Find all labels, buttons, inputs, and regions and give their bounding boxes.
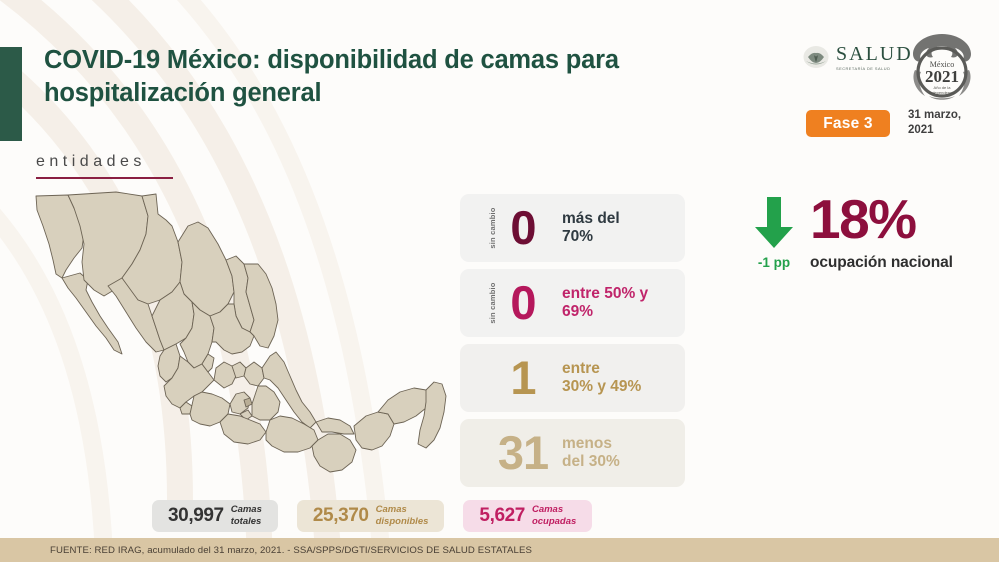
page-title: COVID-19 México: disponibilidad de camas… — [44, 44, 644, 110]
national-occupancy: -1 pp 18% ocupación nacional — [738, 193, 988, 272]
svg-text:Independencia: Independencia — [929, 90, 956, 95]
entidades-label: entidades — [36, 153, 173, 171]
pill-camas-ocupadas: 5,627 Camas ocupadas — [463, 500, 592, 532]
card-number: 0 — [486, 206, 560, 251]
change-label: sin cambio — [488, 207, 497, 248]
card-label: más del 70% — [560, 210, 620, 247]
entidades-section-header: entidades — [36, 153, 173, 179]
slide-canvas: COVID-19 México: disponibilidad de camas… — [0, 0, 999, 562]
source-text: FUENTE: RED IRAG, acumulado del 31 marzo… — [50, 545, 532, 556]
entidades-underline — [36, 177, 173, 179]
card-row: sin cambio 0 más del 70% — [460, 194, 685, 262]
footer-bar: FUENTE: RED IRAG, acumulado del 31 marzo… — [0, 538, 999, 562]
mexico-map — [22, 186, 462, 498]
card-number: 31 — [486, 431, 560, 476]
card-label: entre 30% y 49% — [560, 360, 641, 397]
salud-logo: SALUD SECRETARÍA DE SALUD — [803, 44, 913, 71]
trend-value: -1 pp — [738, 255, 810, 270]
occupancy-cards: sin cambio 0 más del 70% sin cambio 0 en… — [460, 194, 685, 494]
card-label: menos del 30% — [560, 435, 620, 472]
phase-badge: Fase 3 — [806, 110, 890, 137]
pill-label: Camas totales — [231, 504, 262, 527]
pill-label: Camas disponibles — [376, 504, 429, 527]
mexican-coat-of-arms-icon — [803, 44, 829, 70]
pill-label: Camas ocupadas — [532, 504, 576, 527]
pill-camas-disponibles: 25,370 Camas disponibles — [297, 500, 445, 532]
bed-totals: 30,997 Camas totales 25,370 Camas dispon… — [152, 500, 592, 532]
svg-text:2021: 2021 — [925, 67, 959, 86]
title-accent-bar — [0, 47, 22, 141]
card-label: entre 50% y 69% — [560, 285, 648, 322]
national-label: ocupación nacional — [810, 254, 953, 272]
card-row: 1 entre 30% y 49% — [460, 344, 685, 412]
change-label: sin cambio — [488, 282, 497, 323]
salud-wordmark: SALUD — [836, 44, 913, 64]
pill-number: 5,627 — [479, 505, 525, 527]
national-percent: 18% — [810, 193, 953, 245]
card-row: 31 menos del 30% — [460, 419, 685, 487]
mexico-2021-seal-icon: México 2021 Año de la Independencia — [905, 30, 979, 104]
card-number: 1 — [486, 356, 560, 401]
report-date: 31 marzo, 2021 — [908, 108, 961, 138]
arrow-down-icon — [738, 197, 810, 249]
pill-camas-totales: 30,997 Camas totales — [152, 500, 278, 532]
card-number: 0 — [486, 281, 560, 326]
card-row: sin cambio 0 entre 50% y 69% — [460, 269, 685, 337]
salud-subtitle: SECRETARÍA DE SALUD — [836, 67, 913, 71]
pill-number: 25,370 — [313, 505, 369, 527]
pill-number: 30,997 — [168, 505, 224, 527]
